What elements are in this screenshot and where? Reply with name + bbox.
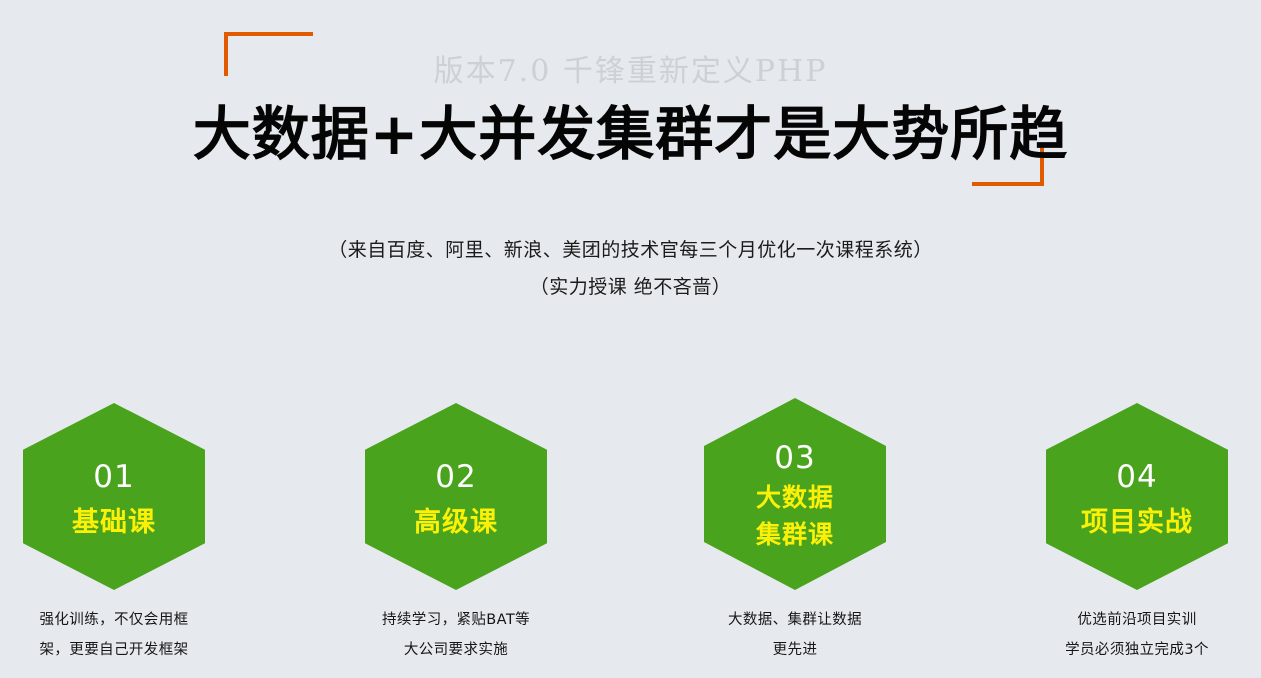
subtitle-line-2: （实力授课 绝不吝啬） [0, 269, 1261, 306]
course-stage-row: 01 基础课 强化训练，不仅会用框 架，更要自己开发框架 02 高级课 持续学习… [0, 392, 1261, 678]
stage-number-04: 04 [1116, 458, 1157, 496]
hexagon-shape-02[interactable]: 02 高级课 [365, 403, 547, 590]
caption-line: 优选前沿项目实训 [1003, 605, 1261, 635]
page-title: 大数据+大并发集群才是大势所趋 [0, 98, 1261, 170]
caption-line: 大数据、集群让数据 [661, 605, 929, 635]
subtitle-line-1: （来自百度、阿里、新浪、美团的技术官每三个月优化一次课程系统） [0, 232, 1261, 269]
slide-canvas: 版本7.0 千锋重新定义PHP 大数据+大并发集群才是大势所趋 （来自百度、阿里… [0, 0, 1261, 678]
caption-line: 强化训练，不仅会用框 [0, 605, 248, 635]
hexagon-shape-03[interactable]: 03 大数据 集群课 [704, 398, 886, 590]
caption-line: 大公司要求实施 [322, 635, 590, 665]
hexagon-shape-04[interactable]: 04 项目实战 [1046, 403, 1228, 590]
stage-number-02: 02 [435, 458, 476, 496]
caption-line: 架，更要自己开发框架 [0, 635, 248, 665]
stage-label-03-line-2: 集群课 [756, 518, 834, 551]
stage-label-04-line-1: 项目实战 [1081, 506, 1193, 540]
course-card-01[interactable]: 01 基础课 强化训练，不仅会用框 架，更要自己开发框架 [0, 392, 248, 678]
stage-number-03: 03 [774, 439, 815, 477]
caption-line: 持续学习，紧贴BAT等 [322, 605, 590, 635]
stage-caption-01: 强化训练，不仅会用框 架，更要自己开发框架 [0, 605, 248, 665]
stage-caption-02: 持续学习，紧贴BAT等 大公司要求实施 [322, 605, 590, 665]
stage-caption-04: 优选前沿项目实训 学员必须独立完成3个 [1003, 605, 1261, 665]
caption-line: 学员必须独立完成3个 [1003, 635, 1261, 665]
course-card-03[interactable]: 03 大数据 集群课 大数据、集群让数据 更先进 [661, 392, 929, 678]
course-card-02[interactable]: 02 高级课 持续学习，紧贴BAT等 大公司要求实施 [322, 392, 590, 678]
subtitle-block: （来自百度、阿里、新浪、美团的技术官每三个月优化一次课程系统） （实力授课 绝不… [0, 232, 1261, 306]
stage-caption-03: 大数据、集群让数据 更先进 [661, 605, 929, 665]
stage-label-03-line-1: 大数据 [756, 481, 834, 514]
stage-label-02-line-1: 高级课 [414, 506, 498, 540]
hexagon-shape-01[interactable]: 01 基础课 [23, 403, 205, 590]
course-card-04[interactable]: 04 项目实战 优选前沿项目实训 学员必须独立完成3个 [1003, 392, 1261, 678]
stage-number-01: 01 [93, 458, 134, 496]
caption-line: 更先进 [661, 635, 929, 665]
watermark-text: 版本7.0 千锋重新定义PHP [0, 46, 1261, 90]
stage-label-01-line-1: 基础课 [72, 506, 156, 540]
